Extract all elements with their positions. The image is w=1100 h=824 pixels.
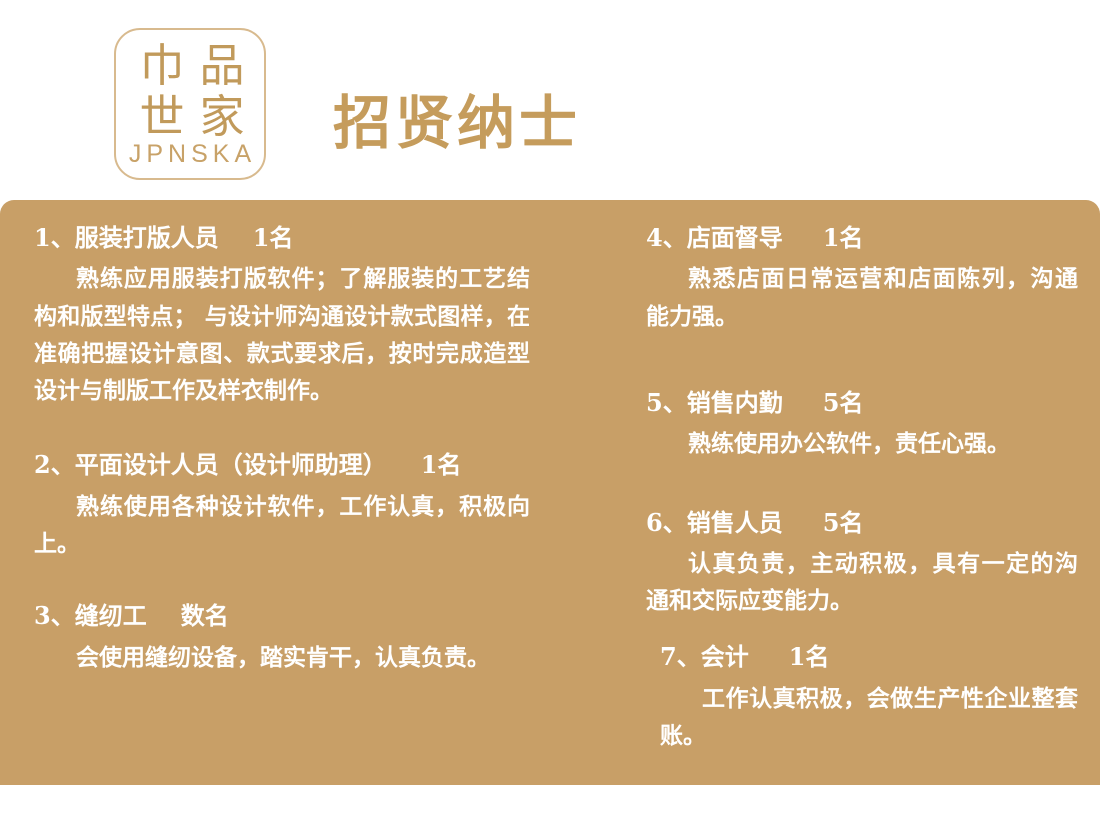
job-heading: 3、缝纫工数名 [34, 600, 530, 632]
job-heading: 7、会计1名 [660, 641, 1078, 673]
job-title: 店面督导 [687, 223, 783, 252]
job-listing: 2、平面设计人员（设计师助理）1名 熟练使用各种设计软件，工作认真，积极向上。 [34, 449, 530, 562]
job-heading: 4、店面督导1名 [646, 222, 1078, 254]
logo-wordmark: JPNSKA [116, 142, 264, 167]
job-number: 7、 [660, 642, 701, 671]
job-number: 2、 [34, 450, 75, 479]
logo-char-4: 家 [199, 94, 244, 139]
job-description: 会使用缝纫设备，踏实肯干，认真负责。 [34, 639, 530, 676]
job-heading: 5、销售内勤5名 [646, 387, 1078, 419]
listings-left-column: 1、服装打版人员1名 熟练应用服装打版软件；了解服装的工艺结构和版型特点； 与设… [0, 200, 560, 785]
listings-panel: 1、服装打版人员1名 熟练应用服装打版软件；了解服装的工艺结构和版型特点； 与设… [0, 200, 1100, 785]
job-number: 3、 [34, 601, 75, 630]
job-heading: 2、平面设计人员（设计师助理）1名 [34, 449, 530, 481]
job-title: 销售人员 [687, 508, 783, 537]
job-listing: 6、销售人员5名 认真负责，主动积极，具有一定的沟通和交际应变能力。 [646, 507, 1078, 620]
company-logo: 巾 品 世 家 JPNSKA [114, 28, 266, 180]
job-number: 1、 [34, 223, 75, 252]
job-headcount: 数名 [181, 601, 229, 630]
job-headcount: 1名 [789, 642, 830, 671]
job-listing: 4、店面督导1名 熟悉店面日常运营和店面陈列，沟通能力强。 [646, 222, 1078, 335]
job-listing: 3、缝纫工数名 会使用缝纫设备，踏实肯干，认真负责。 [34, 600, 530, 676]
job-heading: 6、销售人员5名 [646, 507, 1078, 539]
job-title: 服装打版人员 [75, 223, 219, 252]
job-headcount: 1名 [823, 223, 864, 252]
job-title: 缝纫工 [75, 601, 147, 630]
job-title: 会计 [701, 642, 749, 671]
job-description: 认真负责，主动积极，具有一定的沟通和交际应变能力。 [646, 545, 1078, 620]
listings-right-column: 4、店面督导1名 熟悉店面日常运营和店面陈列，沟通能力强。 5、销售内勤5名 熟… [620, 200, 1100, 785]
job-heading: 1、服装打版人员1名 [34, 222, 530, 254]
job-number: 6、 [646, 508, 687, 537]
recruitment-poster: 巾 品 世 家 JPNSKA 招贤纳士 1、服装打版人员1名 熟练应用服装打版软… [0, 0, 1100, 824]
job-number: 5、 [646, 388, 687, 417]
job-description: 熟练使用办公软件，责任心强。 [646, 425, 1078, 462]
job-headcount: 1名 [253, 223, 294, 252]
job-number: 4、 [646, 223, 687, 252]
logo-char-2: 品 [199, 43, 244, 88]
job-listing: 7、会计1名 工作认真积极，会做生产性企业整套账。 [646, 641, 1078, 754]
job-title: 平面设计人员（设计师助理） [75, 450, 387, 479]
job-description: 熟练应用服装打版软件；了解服装的工艺结构和版型特点； 与设计师沟通设计款式图样，… [34, 260, 530, 409]
logo-char-3: 世 [139, 94, 184, 139]
job-headcount: 5名 [823, 508, 864, 537]
job-listing: 5、销售内勤5名 熟练使用办公软件，责任心强。 [646, 387, 1078, 463]
job-listing: 1、服装打版人员1名 熟练应用服装打版软件；了解服装的工艺结构和版型特点； 与设… [34, 222, 530, 409]
job-description: 工作认真积极，会做生产性企业整套账。 [660, 680, 1078, 755]
job-description: 熟悉店面日常运营和店面陈列，沟通能力强。 [646, 260, 1078, 335]
poster-header: 巾 品 世 家 JPNSKA 招贤纳士 [0, 0, 1100, 200]
job-description: 熟练使用各种设计软件，工作认真，积极向上。 [34, 488, 530, 563]
logo-char-1: 巾 [139, 43, 184, 88]
job-headcount: 1名 [421, 450, 462, 479]
logo-character-grid: 巾 品 世 家 [132, 40, 252, 142]
job-headcount: 5名 [823, 388, 864, 417]
page-title: 招贤纳士 [333, 90, 581, 157]
job-title: 销售内勤 [687, 388, 783, 417]
listings-columns: 1、服装打版人员1名 熟练应用服装打版软件；了解服装的工艺结构和版型特点； 与设… [0, 200, 1100, 785]
